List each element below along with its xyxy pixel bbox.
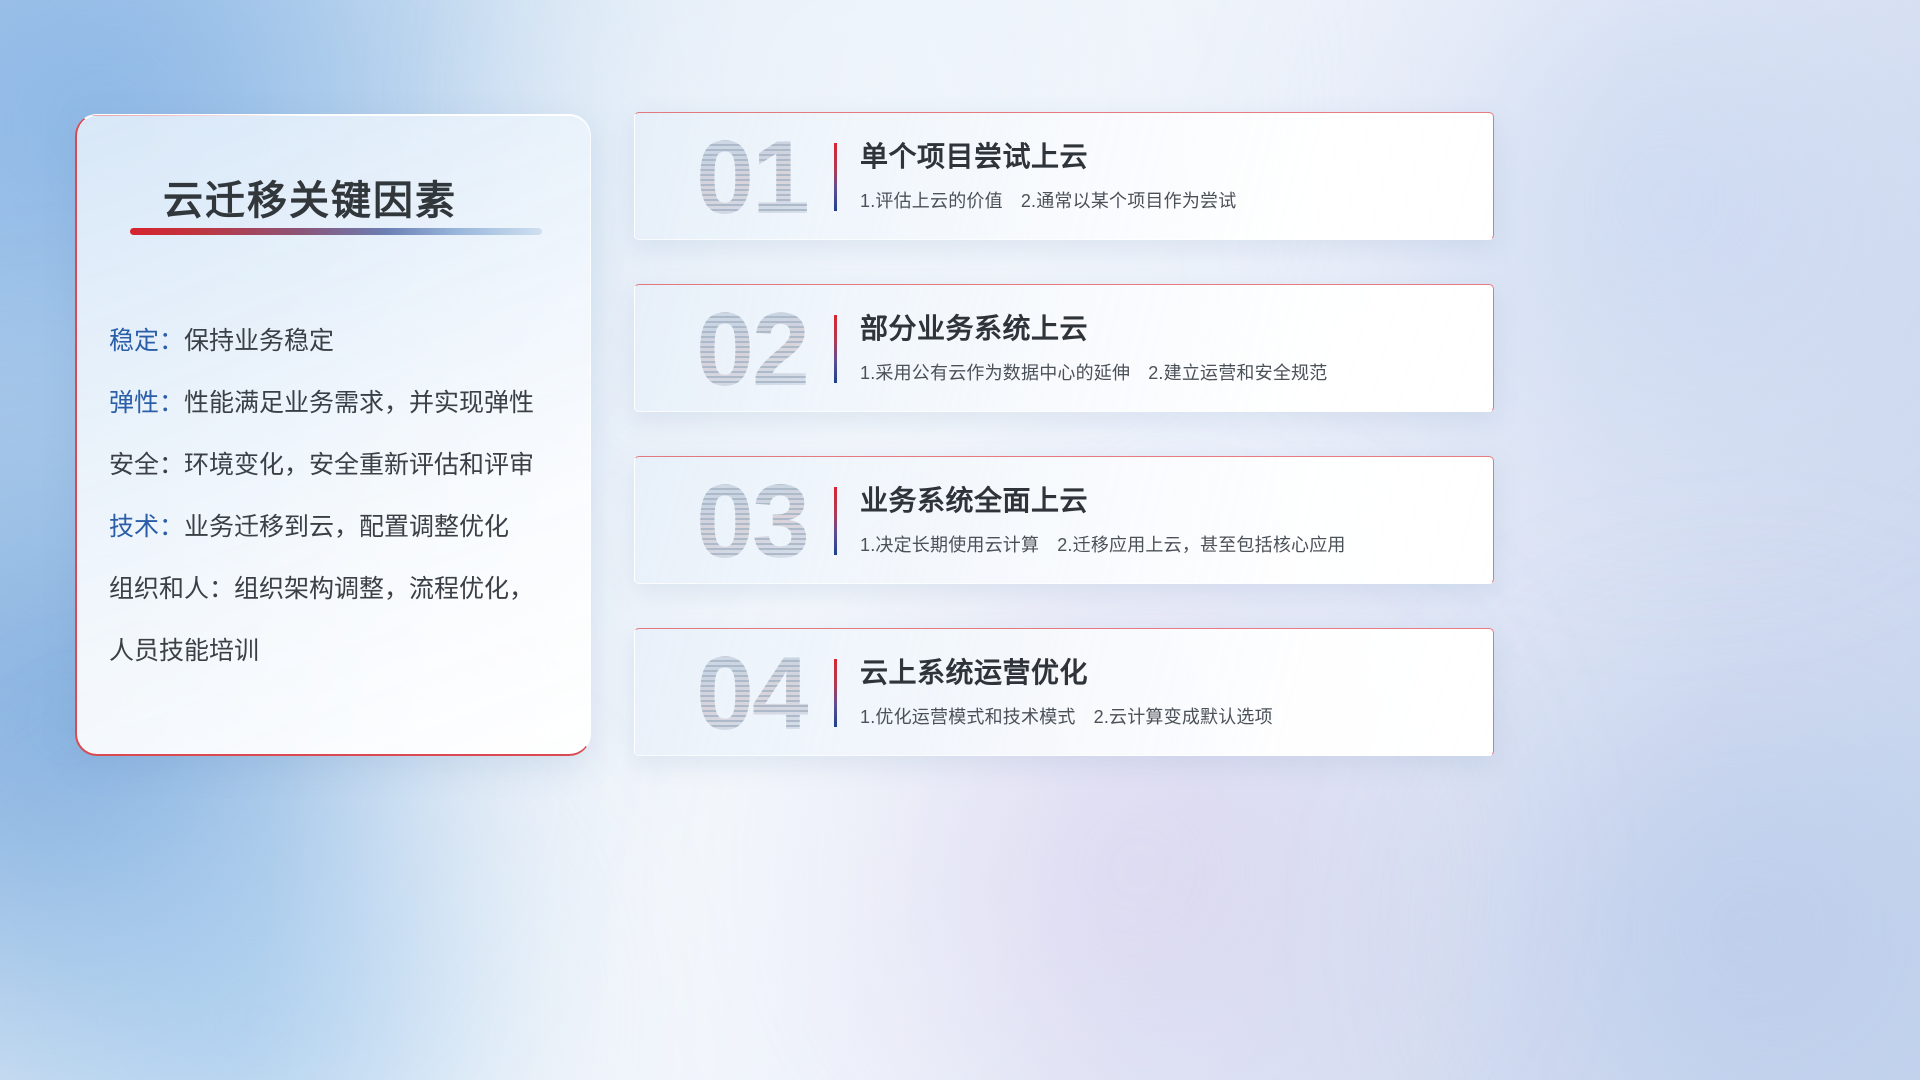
stage-point-1: 1.决定长期使用云计算 [860, 535, 1039, 555]
stage-card-01[interactable]: 01 单个项目尝试上云 1.评估上云的价值2.通常以某个项目作为尝试 [634, 112, 1494, 240]
stage-description: 1.采用公有云作为数据中心的延伸2.建立运营和安全规范 [860, 359, 1475, 385]
slide-stage: 云迁移关键因素 稳定：保持业务稳定 弹性：性能满足业务需求，并实现弹性 安全：环… [0, 0, 1920, 1080]
factor-text: 人员技能培训 [109, 637, 259, 665]
factor-text: 环境变化，安全重新评估和评审 [184, 451, 534, 479]
stage-title: 部分业务系统上云 [860, 307, 1475, 347]
stage-number-watermark: 01 [657, 119, 847, 237]
factor-label: 组织和人： [109, 575, 234, 603]
stage-title: 云上系统运营优化 [860, 651, 1475, 691]
list-item: 弹性：性能满足业务需求，并实现弹性 [109, 372, 570, 434]
stage-card-body: 业务系统全面上云 1.决定长期使用云计算2.迁移应用上云，甚至包括核心应用 [860, 479, 1475, 557]
accent-divider-bar [834, 487, 837, 555]
list-item: 安全：环境变化，安全重新评估和评审 [109, 434, 570, 496]
stage-description: 1.优化运营模式和技术模式2.云计算变成默认选项 [860, 703, 1475, 729]
stage-number-watermark: 04 [657, 635, 847, 753]
list-item: 组织和人：组织架构调整，流程优化， [109, 558, 570, 620]
factor-list: 稳定：保持业务稳定 弹性：性能满足业务需求，并实现弹性 安全：环境变化，安全重新… [109, 310, 570, 682]
title-underline-gradient [130, 228, 542, 235]
factor-label: 安全： [109, 451, 184, 479]
list-item: 稳定：保持业务稳定 [109, 310, 570, 372]
factor-label: 弹性： [109, 389, 184, 417]
factor-text: 保持业务稳定 [184, 327, 334, 355]
stage-title: 业务系统全面上云 [860, 479, 1475, 519]
stage-card-02[interactable]: 02 部分业务系统上云 1.采用公有云作为数据中心的延伸2.建立运营和安全规范 [634, 284, 1494, 412]
stage-point-1: 1.评估上云的价值 [860, 191, 1003, 211]
factor-text: 性能满足业务需求，并实现弹性 [184, 389, 534, 417]
stage-number-watermark: 02 [657, 291, 847, 409]
list-item: 人员技能培训 [109, 620, 570, 682]
factor-text: 业务迁移到云，配置调整优化 [184, 513, 509, 541]
accent-divider-bar [834, 315, 837, 383]
factor-text: 组织架构调整，流程优化， [234, 575, 534, 603]
stage-card-03[interactable]: 03 业务系统全面上云 1.决定长期使用云计算2.迁移应用上云，甚至包括核心应用 [634, 456, 1494, 584]
stage-description: 1.评估上云的价值2.通常以某个项目作为尝试 [860, 187, 1475, 213]
panel-top-highlight [77, 115, 590, 116]
stage-title: 单个项目尝试上云 [860, 135, 1475, 175]
accent-divider-bar [834, 659, 837, 727]
key-factors-panel: 云迁移关键因素 稳定：保持业务稳定 弹性：性能满足业务需求，并实现弹性 安全：环… [75, 114, 591, 756]
stage-point-2: 2.建立运营和安全规范 [1148, 363, 1327, 383]
list-item: 技术：业务迁移到云，配置调整优化 [109, 496, 570, 558]
stage-point-1: 1.采用公有云作为数据中心的延伸 [860, 363, 1130, 383]
stage-point-2: 2.云计算变成默认选项 [1094, 707, 1273, 727]
stage-card-04[interactable]: 04 云上系统运营优化 1.优化运营模式和技术模式2.云计算变成默认选项 [634, 628, 1494, 756]
stage-point-2: 2.迁移应用上云，甚至包括核心应用 [1057, 535, 1345, 555]
stage-card-list: 01 单个项目尝试上云 1.评估上云的价值2.通常以某个项目作为尝试 02 部分… [634, 112, 1846, 756]
stage-point-1: 1.优化运营模式和技术模式 [860, 707, 1076, 727]
stage-point-2: 2.通常以某个项目作为尝试 [1021, 191, 1237, 211]
factor-label: 技术： [109, 513, 184, 541]
stage-card-body: 单个项目尝试上云 1.评估上云的价值2.通常以某个项目作为尝试 [860, 135, 1475, 213]
factor-label: 稳定： [109, 327, 184, 355]
stage-description: 1.决定长期使用云计算2.迁移应用上云，甚至包括核心应用 [860, 531, 1475, 557]
stage-card-body: 部分业务系统上云 1.采用公有云作为数据中心的延伸2.建立运营和安全规范 [860, 307, 1475, 385]
accent-divider-bar [834, 143, 837, 211]
stage-card-body: 云上系统运营优化 1.优化运营模式和技术模式2.云计算变成默认选项 [860, 651, 1475, 729]
page-title: 云迁移关键因素 [163, 168, 457, 226]
stage-number-watermark: 03 [657, 463, 847, 581]
